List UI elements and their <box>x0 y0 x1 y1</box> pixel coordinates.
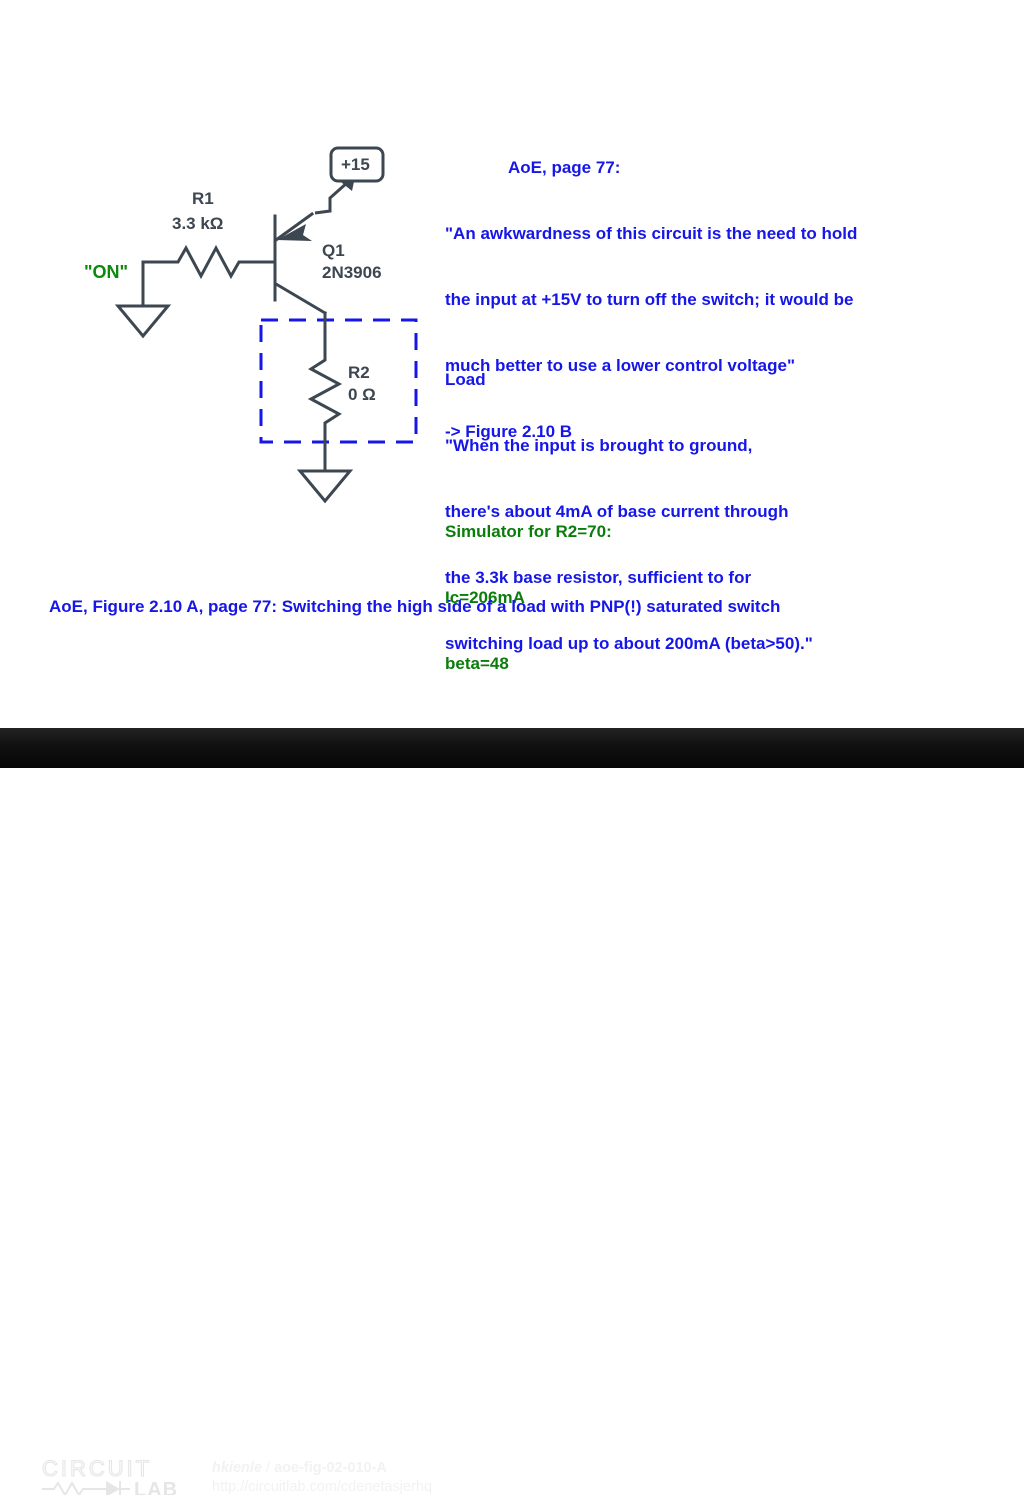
aoe-note-heading: AoE, page 77: <box>445 157 857 179</box>
footer-credit-line: hkienle / aoe-fig-02-010-A <box>212 1459 432 1478</box>
transistor-collector-lead <box>276 284 325 313</box>
r2-ref-label: R2 <box>348 362 370 383</box>
resistor-r1-symbol <box>170 248 248 276</box>
simulator-note-line-3: beta=48 <box>445 653 612 675</box>
wire-supply-step <box>315 182 348 213</box>
figure-caption: AoE, Figure 2.10 A, page 77: Switching t… <box>49 597 780 617</box>
aoe-note-line-1: "An awkwardness of this circuit is the n… <box>445 223 857 245</box>
ground-symbol-load <box>300 471 350 501</box>
q1-part-label: 2N3906 <box>322 262 382 283</box>
resistor-r2-symbol <box>311 353 339 430</box>
logo-diode-triangle-icon <box>106 1481 120 1495</box>
footer-figure-id: aoe-fig-02-010-A <box>274 1460 387 1476</box>
q1-ref-label: Q1 <box>322 240 345 261</box>
simulator-note-block: Simulator for R2=70: Ic=206mA beta=48 <box>445 477 612 697</box>
input-on-label: "ON" <box>84 262 128 283</box>
supply-node-label: +15 <box>341 155 370 175</box>
logo-resistor-icon <box>42 1483 96 1495</box>
ground-symbol-input <box>118 306 168 336</box>
r1-ref-label: R1 <box>192 188 214 209</box>
load-note-heading: Load <box>445 369 813 391</box>
footer-bar: CIRCUIT LAB hkienle / aoe-fig-02-010-A h… <box>0 728 1024 768</box>
footer-url[interactable]: http://circuitlab.com/cdenetasjerhq <box>212 1478 432 1496</box>
logo-circuit-text: CIRCUIT <box>42 1459 152 1481</box>
load-note-line-1: "When the input is brought to ground, <box>445 435 813 457</box>
footer-credit-block: hkienle / aoe-fig-02-010-A http://circui… <box>212 1459 432 1496</box>
logo-lab-text: LAB <box>134 1479 178 1495</box>
simulator-note-line-1: Simulator for R2=70: <box>445 521 612 543</box>
footer-author: hkienle <box>212 1460 262 1476</box>
r2-value-label: 0 Ω <box>348 384 376 405</box>
load-dashed-box <box>261 320 416 442</box>
footer-separator: / <box>262 1460 274 1476</box>
circuitlab-logo: CIRCUIT LAB <box>40 1459 192 1495</box>
aoe-note-line-2: the input at +15V to turn off the switch… <box>445 289 857 311</box>
r1-value-label: 3.3 kΩ <box>172 213 223 234</box>
